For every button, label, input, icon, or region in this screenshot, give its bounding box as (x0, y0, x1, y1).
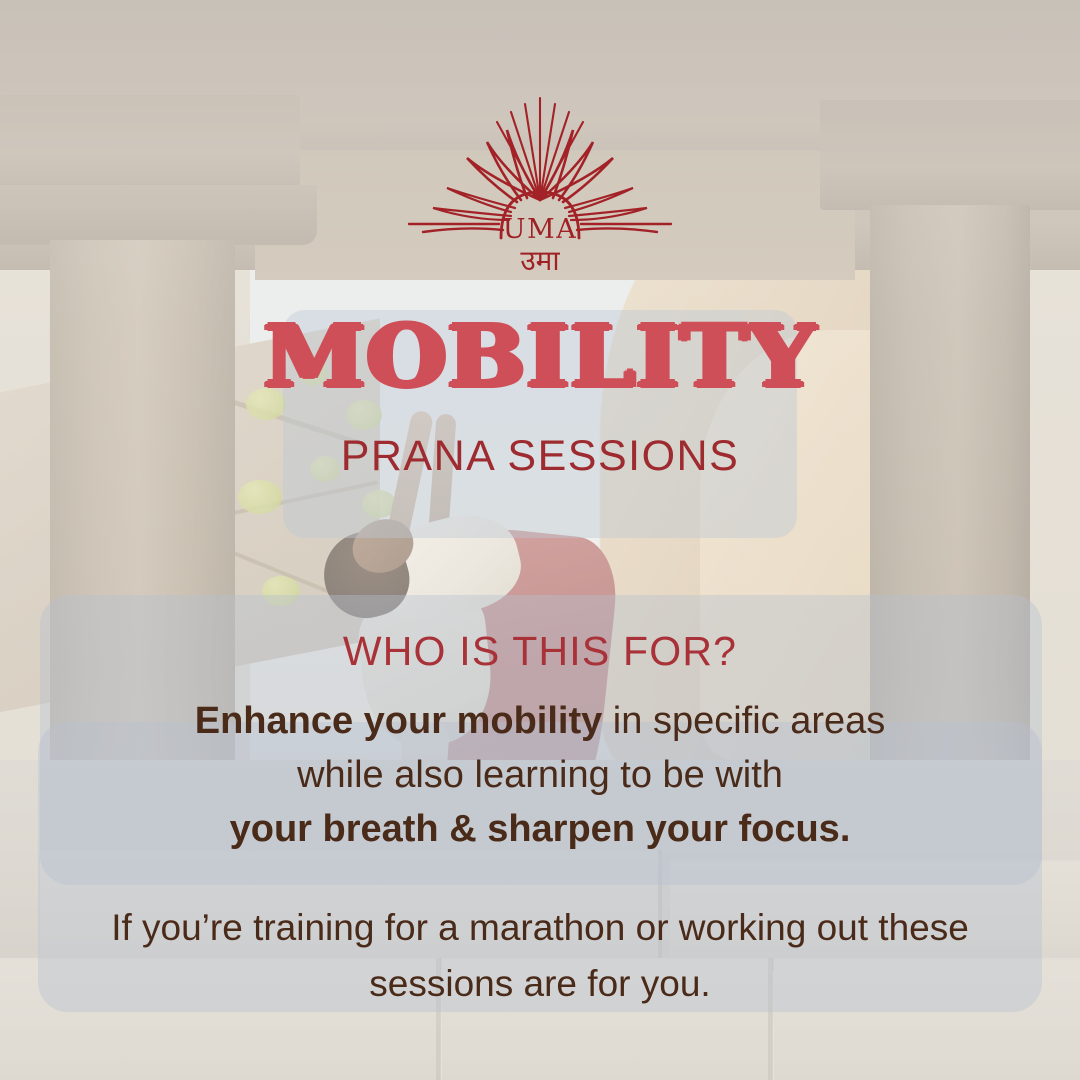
sunburst-logo: UMA उमा (395, 92, 685, 282)
body-copy: Enhance your mobility in specific areas … (90, 695, 990, 857)
section-heading: WHO IS THIS FOR? (0, 628, 1080, 675)
body-line-2: while also learning to be with (90, 749, 990, 803)
poster: UMA उमा MOBILITY PRANA SESSIONS WHO IS T… (0, 0, 1080, 1080)
body-line-3-bold: your breath & sharpen your focus. (230, 808, 851, 850)
title-block: MOBILITY PRANA SESSIONS (283, 316, 797, 481)
closing-copy: If you’re training for a marathon or wor… (60, 900, 1020, 1011)
body-line-1: Enhance your mobility in specific areas (90, 695, 990, 749)
poster-content: UMA उमा MOBILITY PRANA SESSIONS WHO IS T… (0, 0, 1080, 1080)
page-title: MOBILITY (252, 314, 828, 399)
logo-name-devanagari: उमा (520, 244, 560, 277)
page-subtitle: PRANA SESSIONS (283, 432, 797, 481)
body-line-1-rest: in specific areas (602, 700, 885, 742)
body-line-3: your breath & sharpen your focus. (90, 803, 990, 857)
logo-name-latin: UMA (503, 214, 577, 245)
body-line-1-bold: Enhance your mobility (195, 700, 603, 742)
